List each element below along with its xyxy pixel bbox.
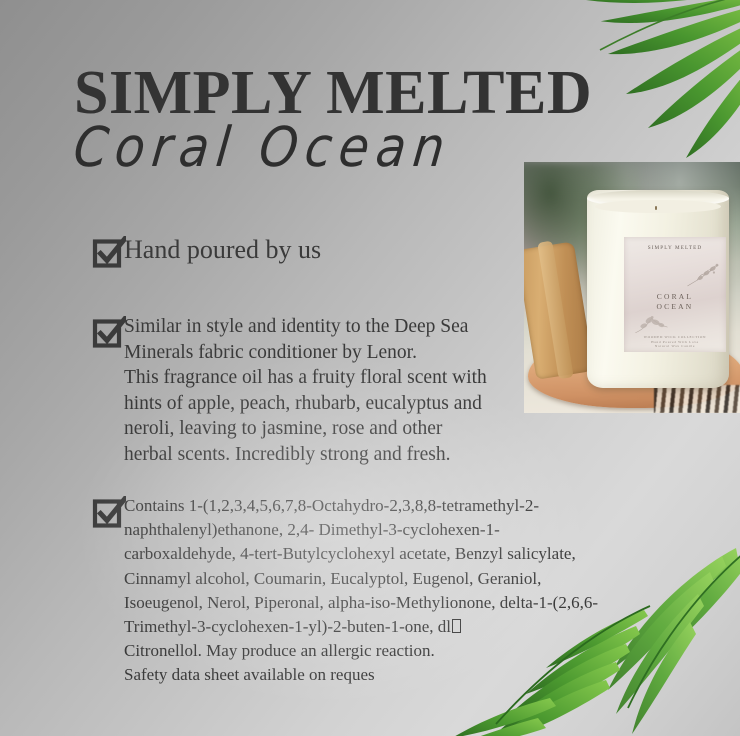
feature-bullet-text: Similar in style and identity to the Dee… — [124, 314, 487, 467]
label-fine-print-3: Natural Wax Candle — [630, 344, 720, 349]
botanical-sprig-icon — [685, 260, 722, 290]
candle-jar: SIMPLY MELTED — [587, 190, 730, 388]
label-brand-text: SIMPLY MELTED — [630, 245, 720, 251]
feature-bullet-scent-description: Similar in style and identity to the Dee… — [92, 314, 542, 467]
checkbox-checked-icon — [92, 496, 126, 529]
bullet-line: Safety data sheet available on reques — [124, 663, 598, 687]
label-scent-line-1: CORAL — [630, 292, 720, 302]
bullet-line-with-missing-glyph: Trimethyl-3-cyclohexen-1-yl)-2-buten-1-o… — [124, 615, 598, 639]
bullet-line: Similar in style and identity to the Dee… — [124, 314, 487, 340]
label-fine-print: WOODED WICK COLLECTION Hand Poured With … — [630, 335, 720, 349]
bullet-line: naphthalenyl)ethanone, 2,4- Dimethyl-3-c… — [124, 518, 598, 542]
bullet-line: hints of apple, peach, rhubarb, eucalypt… — [124, 391, 487, 417]
bullet-line: Isoeugenol, Nerol, Piperonal, alpha-iso-… — [124, 591, 598, 615]
bullet-line: Cinnamyl alcohol, Coumarin, Eucalyptol, … — [124, 567, 598, 591]
bullet-line: neroli, leaving to jasmine, rose and oth… — [124, 416, 487, 442]
feature-bullet-ingredients: Contains 1-(1,2,3,4,5,6,7,8-Octahydro-2,… — [92, 494, 652, 688]
product-info-poster: SIMPLY MELTED Coral Ocean SIMPLY MELTED — [0, 0, 740, 736]
feature-bullet-text: Hand poured by us — [124, 234, 321, 266]
feature-bullet-hand-poured: Hand poured by us — [92, 234, 522, 267]
title-block: SIMPLY MELTED Coral Ocean — [74, 62, 634, 173]
product-photo: SIMPLY MELTED — [524, 162, 740, 413]
bullet-line: Contains 1-(1,2,3,4,5,6,7,8-Octahydro-2,… — [124, 494, 598, 518]
bullet-line: Hand poured by us — [124, 234, 321, 266]
missing-glyph-box — [452, 619, 461, 633]
bullet-line: This fragrance oil has a fruity floral s… — [124, 365, 487, 391]
bullet-line: herbal scents. Incredibly strong and fre… — [124, 442, 487, 468]
bullet-line-text: Trimethyl-3-cyclohexen-1-yl)-2-buten-1-o… — [124, 617, 451, 636]
candle-wax-surface — [595, 200, 720, 214]
bullet-line: Citronellol. May produce an allergic rea… — [124, 639, 598, 663]
bullet-line: carboxaldehyde, 4-tert-Butylcyclohexyl a… — [124, 542, 598, 566]
checkbox-checked-icon — [92, 236, 126, 269]
label-scent-text: CORAL OCEAN — [630, 292, 720, 311]
checkbox-checked-icon — [92, 316, 126, 349]
floral-motif-icon — [634, 311, 669, 336]
patterned-fabric — [654, 385, 740, 413]
jar-label: SIMPLY MELTED — [624, 237, 727, 352]
bullet-line: Minerals fabric conditioner by Lenor. — [124, 340, 487, 366]
feature-bullet-text: Contains 1-(1,2,3,4,5,6,7,8-Octahydro-2,… — [124, 494, 598, 688]
